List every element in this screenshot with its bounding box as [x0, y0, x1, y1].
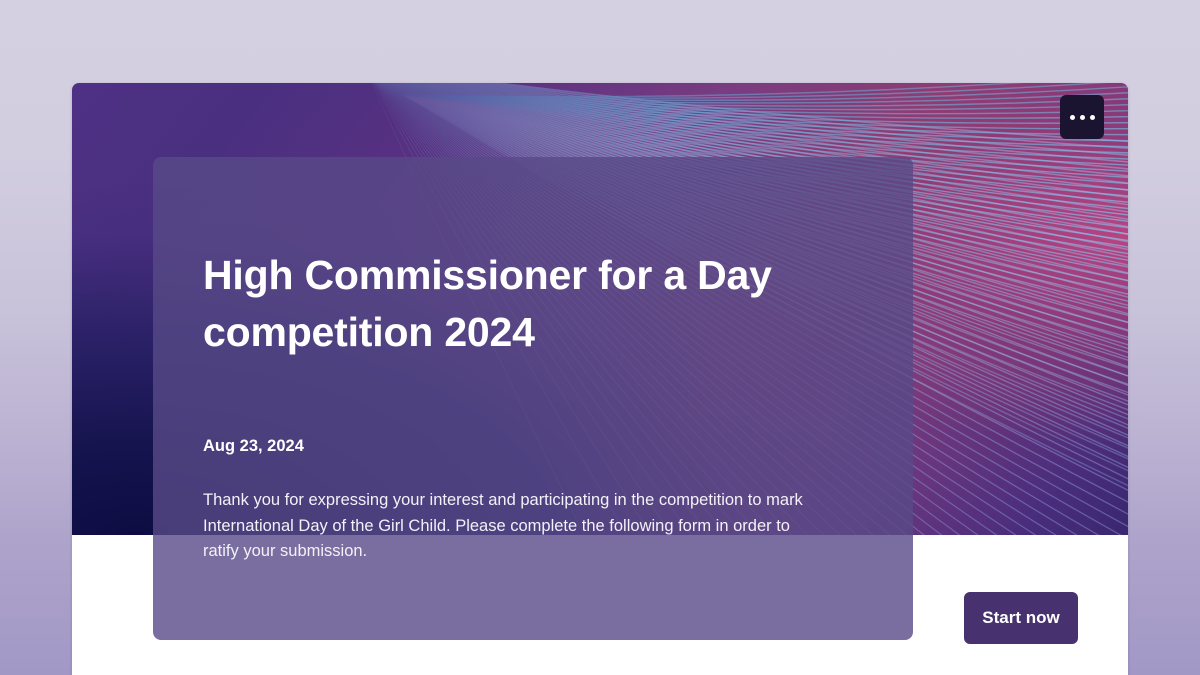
ellipsis-icon-dot-3 [1090, 115, 1095, 120]
ellipsis-icon-dot-1 [1070, 115, 1075, 120]
form-date: Aug 23, 2024 [203, 436, 865, 456]
more-options-button[interactable] [1060, 95, 1104, 139]
form-description: Thank you for expressing your interest a… [203, 488, 803, 565]
form-card: High Commissioner for a Day competition … [72, 83, 1128, 675]
form-header-panel: High Commissioner for a Day competition … [153, 157, 913, 640]
ellipsis-icon-dot-2 [1080, 115, 1085, 120]
forms-welcome-page: High Commissioner for a Day competition … [0, 0, 1200, 675]
page-title: High Commissioner for a Day competition … [203, 247, 803, 361]
start-now-button[interactable]: Start now [964, 592, 1078, 644]
